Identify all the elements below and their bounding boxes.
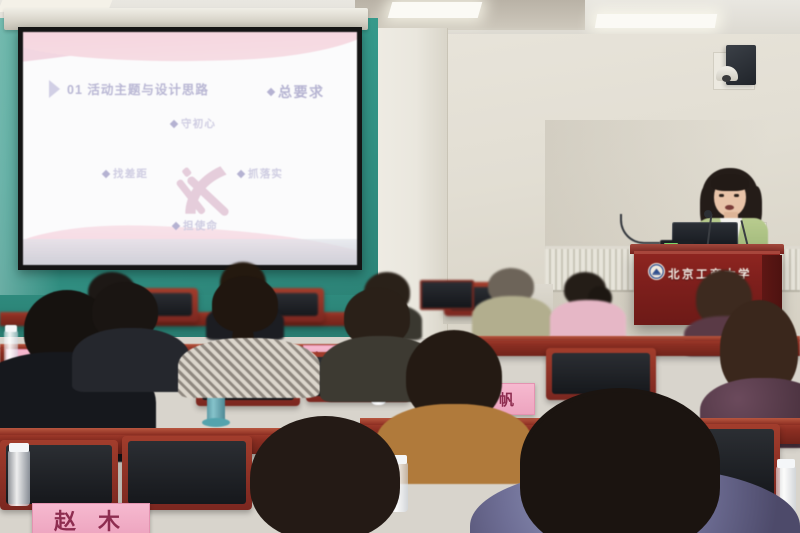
slide-label-text: 总要求 — [278, 82, 325, 102]
audience-member — [480, 268, 542, 328]
slide-label-general-requirement: 总要求 — [268, 82, 325, 102]
diamond-bullet-icon — [172, 221, 180, 229]
slide-wave-decor — [23, 32, 357, 70]
slide-label-text: 抓落实 — [248, 166, 283, 181]
diamond-bullet-icon — [267, 88, 275, 96]
presenter-mouth — [725, 205, 734, 210]
presenter-fringe — [711, 174, 749, 191]
microphone-head-icon — [704, 210, 712, 218]
slide-bottom-band — [23, 239, 357, 265]
thermos-base — [202, 418, 230, 427]
audience-member — [556, 272, 616, 330]
slide-title: 01 活动主题与设计思路 — [67, 79, 209, 98]
slide-label-keep-aspiration: 守初心 — [171, 116, 216, 131]
slide-label-find-gap: 找差距 — [103, 166, 148, 181]
university-seal-icon — [648, 263, 665, 280]
chair-cushion — [128, 441, 246, 504]
slide-label-text: 守初心 — [181, 116, 216, 131]
slide-title-row: 01 活动主题与设计思路 — [49, 79, 209, 98]
ceiling-light — [595, 14, 717, 28]
audience-member-foreground — [236, 416, 416, 533]
bottle-cap — [9, 443, 29, 452]
hammer-and-sickle-emblem — [175, 160, 241, 222]
diamond-bullet-icon — [102, 169, 110, 177]
slide-surface: 01 活动主题与设计思路 总要求 守初心 找差距 抓落实 担使命 — [23, 32, 357, 265]
slide-label-text: 找差距 — [113, 166, 148, 181]
audience-member — [196, 276, 300, 380]
water-bottle — [8, 450, 30, 506]
conference-room-photo: 01 活动主题与设计思路 总要求 守初心 找差距 抓落实 担使命 — [0, 0, 800, 533]
slide-label-text: 担使命 — [183, 218, 218, 233]
name-card: 赵 木 — [32, 503, 150, 533]
diamond-bullet-icon — [237, 169, 245, 177]
audience-hair — [250, 416, 400, 533]
camera-lens-icon — [722, 75, 731, 82]
diamond-bullet-icon — [170, 119, 178, 127]
chevron-right-icon — [49, 80, 60, 98]
projector-screen-icon: 01 活动主题与设计思路 总要求 守初心 找差距 抓落实 担使命 — [18, 27, 362, 270]
audience-shoulders — [550, 300, 626, 340]
bottle-cap — [777, 459, 795, 468]
audience-shoulders — [178, 338, 320, 398]
chair — [122, 436, 252, 510]
slide-label-take-mission: 担使命 — [173, 218, 218, 233]
audience-member — [86, 282, 172, 368]
slide-label-implement: 抓落实 — [238, 166, 283, 181]
presenter-eye — [719, 194, 724, 197]
desk-monitor — [420, 280, 474, 310]
audience-shoulders — [72, 328, 190, 392]
ceiling-light — [388, 2, 483, 18]
presenter-eye — [734, 194, 739, 197]
